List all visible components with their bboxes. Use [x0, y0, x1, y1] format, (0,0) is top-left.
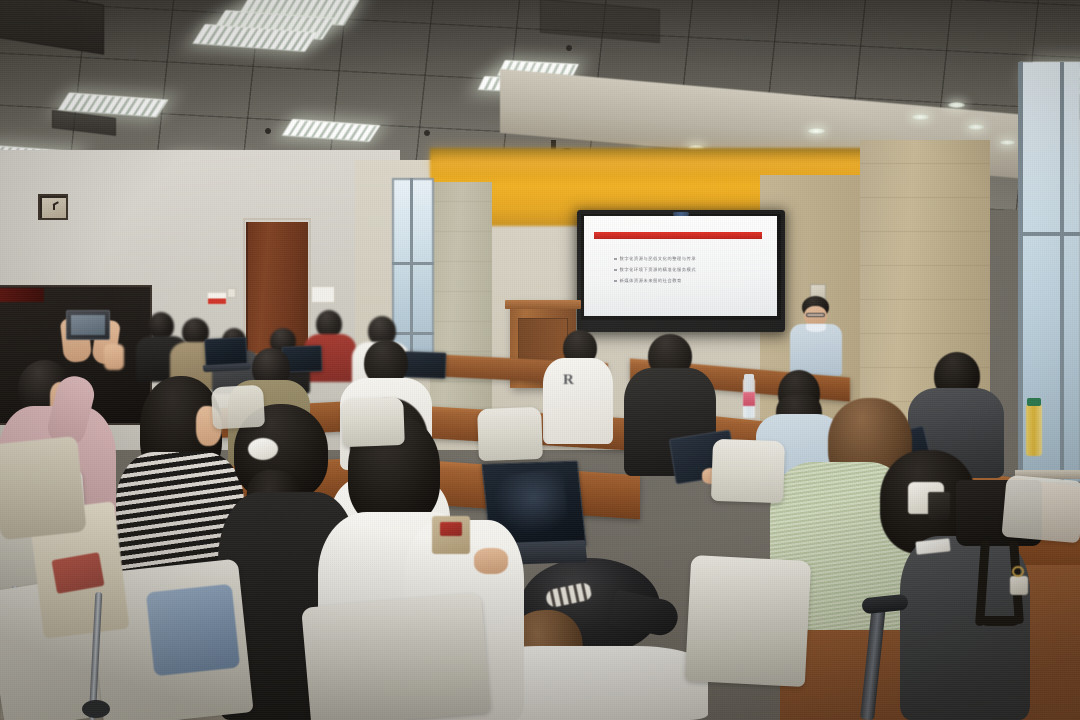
lectern-panel [518, 318, 568, 364]
wall-sign-red [207, 292, 227, 305]
presenter-glasses [806, 313, 825, 317]
window-mullion [1060, 62, 1064, 482]
tote-bag-logo [440, 522, 462, 536]
desk-cup [928, 492, 950, 520]
window-mullion [1020, 232, 1080, 236]
bag-keychain [1010, 576, 1028, 595]
ceiling-downlight [912, 114, 929, 120]
ceiling-sprinkler [424, 130, 430, 136]
presenter [780, 296, 854, 374]
slide-bullet-list: 数字化资源与民俗文化的整理与传承 数字化环境下资源的精准化服务模式 新媒体资源未… [614, 256, 754, 284]
door-notice-sign [311, 286, 335, 303]
audience-torso [543, 358, 613, 444]
ceiling-downlight [948, 102, 965, 108]
white-scrunchie [248, 438, 278, 460]
chair[interactable] [1001, 475, 1080, 544]
slide-bullet-text: 数字化环境下资源的精准化服务模式 [620, 267, 697, 273]
bag-strap-bottom [978, 616, 1022, 626]
light-switch[interactable] [227, 288, 236, 298]
wall-clock [38, 194, 68, 220]
bottle-cap [1027, 398, 1041, 406]
window-mullion [410, 178, 413, 373]
chair[interactable] [211, 385, 265, 430]
slide-bullet-text: 数字化资源与民俗文化的整理与传承 [620, 256, 697, 262]
chair[interactable] [685, 555, 811, 687]
lecture-hall-photo: 数字化资源与民俗文化的整理与传承 数字化环境下资源的精准化服务模式 新媒体资源未… [0, 0, 1080, 720]
window-mullion [392, 332, 434, 335]
slide-bullet-marker [614, 258, 617, 261]
denim-jacket-on-chair [146, 584, 240, 677]
chair-foot [82, 700, 110, 718]
slide-bullet-text: 新媒体资源未来图的社会教育 [620, 278, 682, 284]
clock-face [42, 198, 66, 218]
bottle-cap [744, 374, 754, 380]
ceiling-sprinkler [265, 128, 271, 134]
bag-keyring [1012, 566, 1024, 577]
ceiling-downlight [1000, 140, 1015, 145]
ceiling-downlight [968, 124, 984, 130]
jacket-on-chair [0, 436, 87, 540]
window-mullion [1018, 62, 1023, 482]
chair[interactable] [341, 397, 405, 447]
slide-accent-bar [594, 232, 762, 239]
window-mullion [392, 262, 434, 265]
clock-minute-hand [53, 201, 59, 205]
amber-cove-bloom [430, 140, 900, 170]
ceiling-sprinkler [566, 45, 572, 51]
board-red-banner [0, 288, 44, 302]
tea-bottle [1026, 404, 1042, 456]
bottle-label [743, 392, 755, 406]
display-webcam [673, 212, 689, 216]
chair[interactable] [301, 592, 491, 720]
chair[interactable] [477, 407, 543, 461]
chair[interactable] [711, 439, 785, 503]
slide-bullet-marker [614, 269, 617, 272]
laptop[interactable] [404, 351, 447, 378]
ceiling-downlight [808, 128, 825, 134]
lectern-top [505, 300, 581, 309]
hand-raised [104, 344, 124, 370]
presenter-collar [806, 324, 826, 332]
camera-screen [71, 315, 105, 335]
slide-bullet-marker [614, 280, 617, 283]
tshirt-letter-r: R [563, 372, 576, 389]
clock-hour-hand [53, 205, 55, 210]
hand [474, 548, 508, 574]
